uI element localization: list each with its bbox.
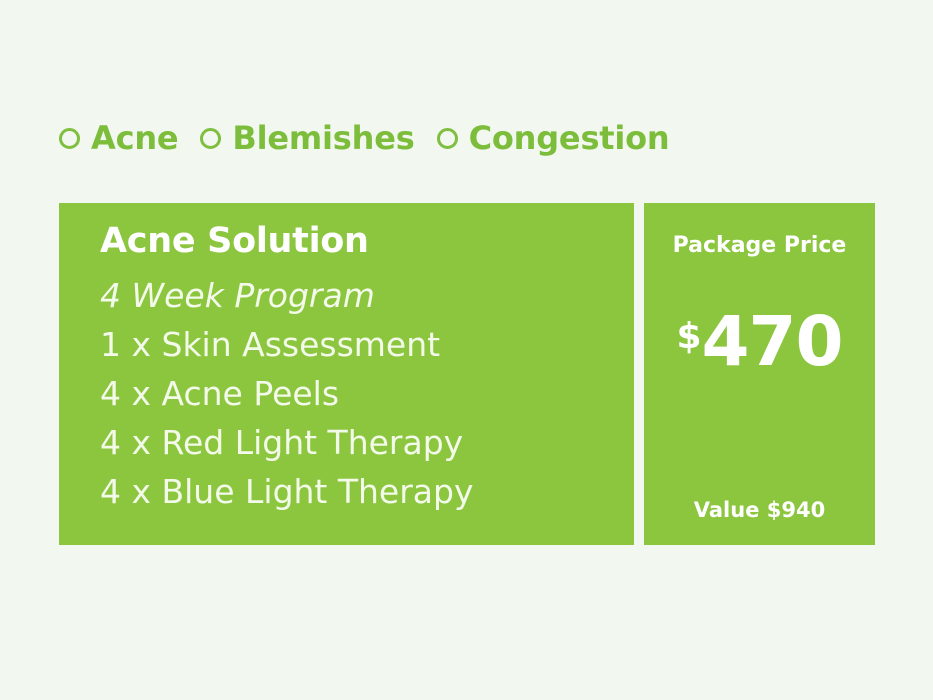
list-item: 1 x Skin Assessment [100,320,604,369]
panel-divider-gap [634,203,644,545]
circle-outline-icon [437,128,458,149]
list-item: 4 x Blue Light Therapy [100,467,604,516]
package-price-label: Package Price [673,235,847,257]
promo-card-page: Acne Blemishes Congestion Acne Solution … [0,0,933,700]
condition-tag-label: Congestion [469,122,670,154]
package-details-panel: Acne Solution 4 Week Program 1 x Skin As… [59,203,634,545]
price-value: 470 [702,313,843,372]
list-item: 4 x Red Light Therapy [100,418,604,467]
currency-symbol: $ [676,319,701,355]
package-panels: Acne Solution 4 Week Program 1 x Skin As… [59,203,875,545]
package-subtitle: 4 Week Program [100,271,604,320]
condition-tag-list: Acne Blemishes Congestion [59,122,670,154]
list-item: 4 x Acne Peels [100,369,604,418]
condition-tag-acne[interactable]: Acne [59,122,178,154]
package-price-panel: Package Price $ 470 Value $940 [644,203,875,545]
condition-tag-blemishes[interactable]: Blemishes [200,122,414,154]
package-price-amount: $ 470 [676,313,842,372]
circle-outline-icon [200,128,221,149]
condition-tag-label: Blemishes [232,122,414,154]
package-title: Acne Solution [100,221,604,261]
condition-tag-congestion[interactable]: Congestion [437,122,670,154]
circle-outline-icon [59,128,80,149]
package-value-note: Value $940 [694,500,825,521]
condition-tag-label: Acne [91,122,178,154]
package-inclusions-list: 1 x Skin Assessment 4 x Acne Peels 4 x R… [100,320,604,516]
